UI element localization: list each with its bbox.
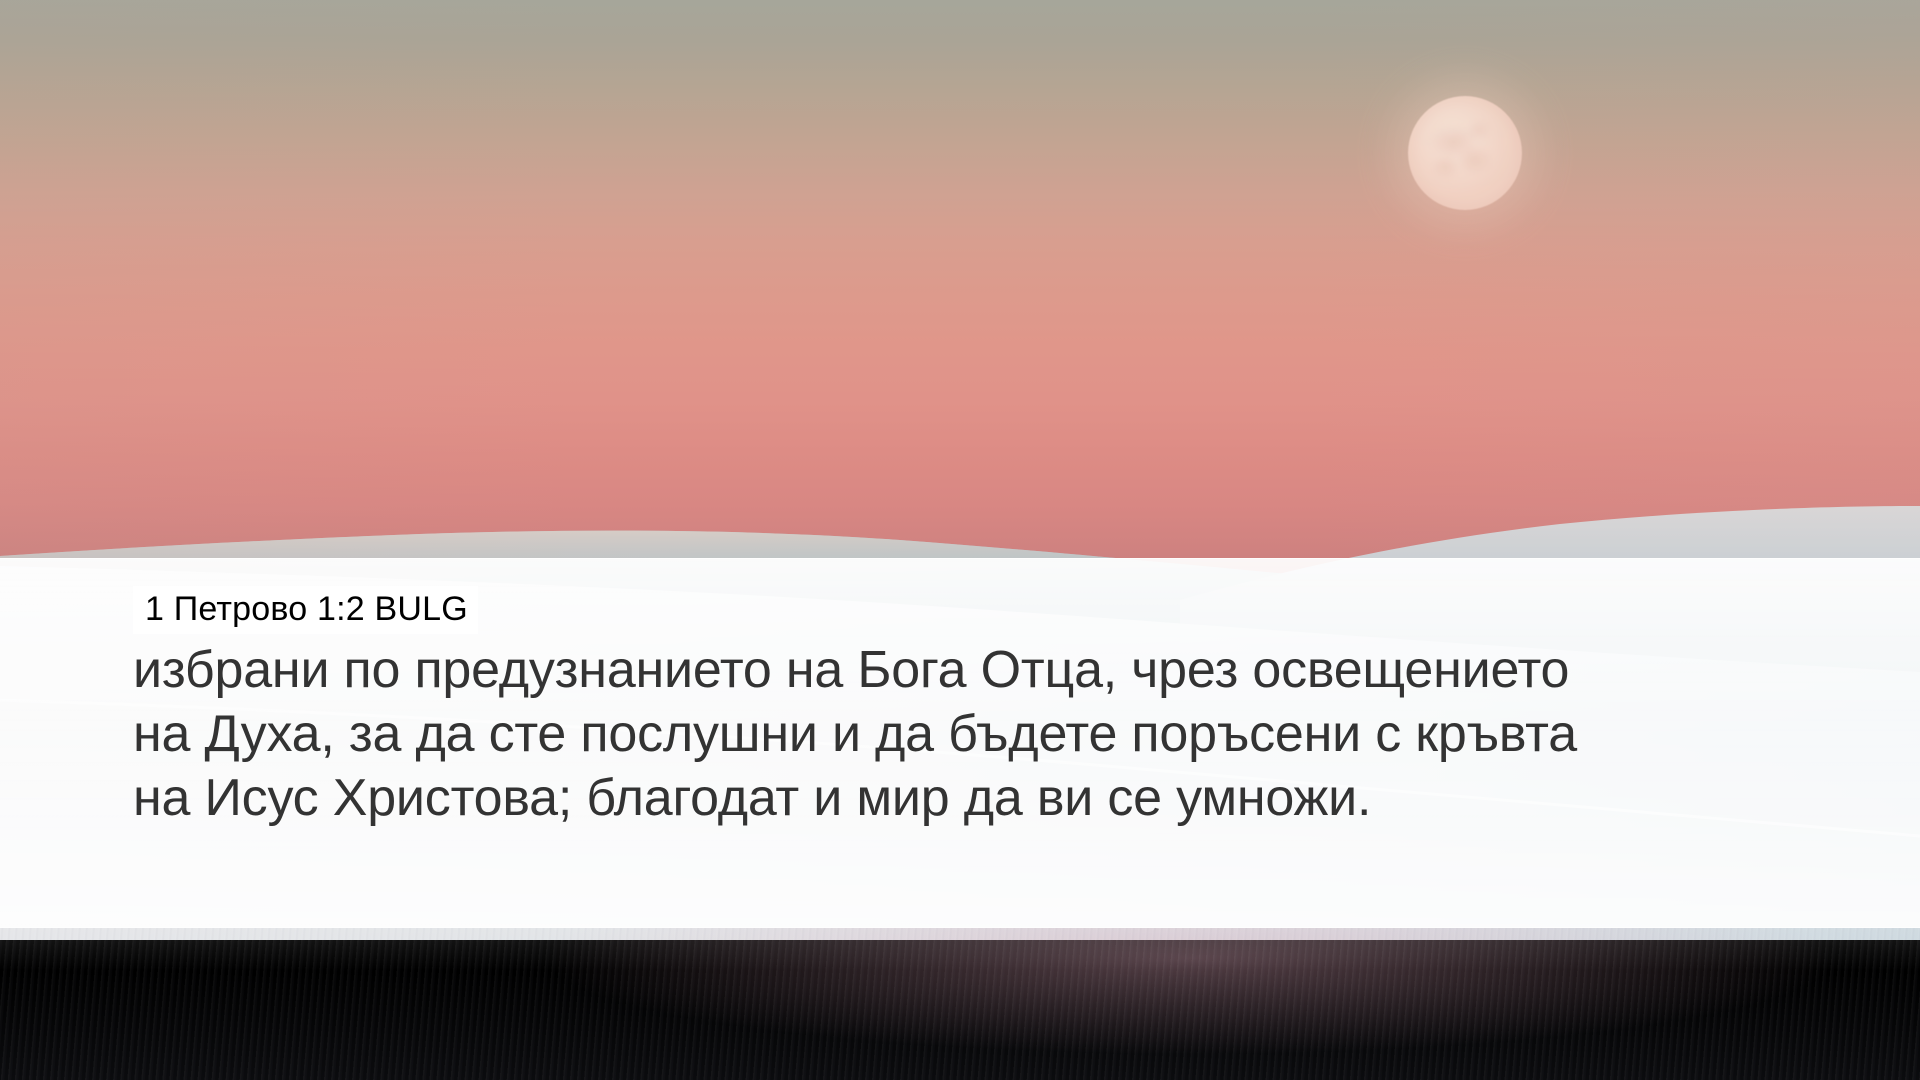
foreground-sand (0, 928, 1920, 1080)
foreground-shading (0, 928, 1920, 1080)
verse-text: избрани по предузнанието на Бога Отца, ч… (133, 638, 1813, 830)
verse-line: на Исус Христова; благодат и мир да ви с… (133, 766, 1813, 830)
verse-line: избрани по предузнанието на Бога Отца, ч… (133, 638, 1813, 702)
verse-line: на Духа, за да сте послушни и да бъдете … (133, 702, 1813, 766)
verse-reference-label: 1 Петрово 1:2 BULG (133, 586, 478, 634)
verse-image-canvas: 1 Петрово 1:2 BULG избрани по предузнани… (0, 0, 1920, 1080)
